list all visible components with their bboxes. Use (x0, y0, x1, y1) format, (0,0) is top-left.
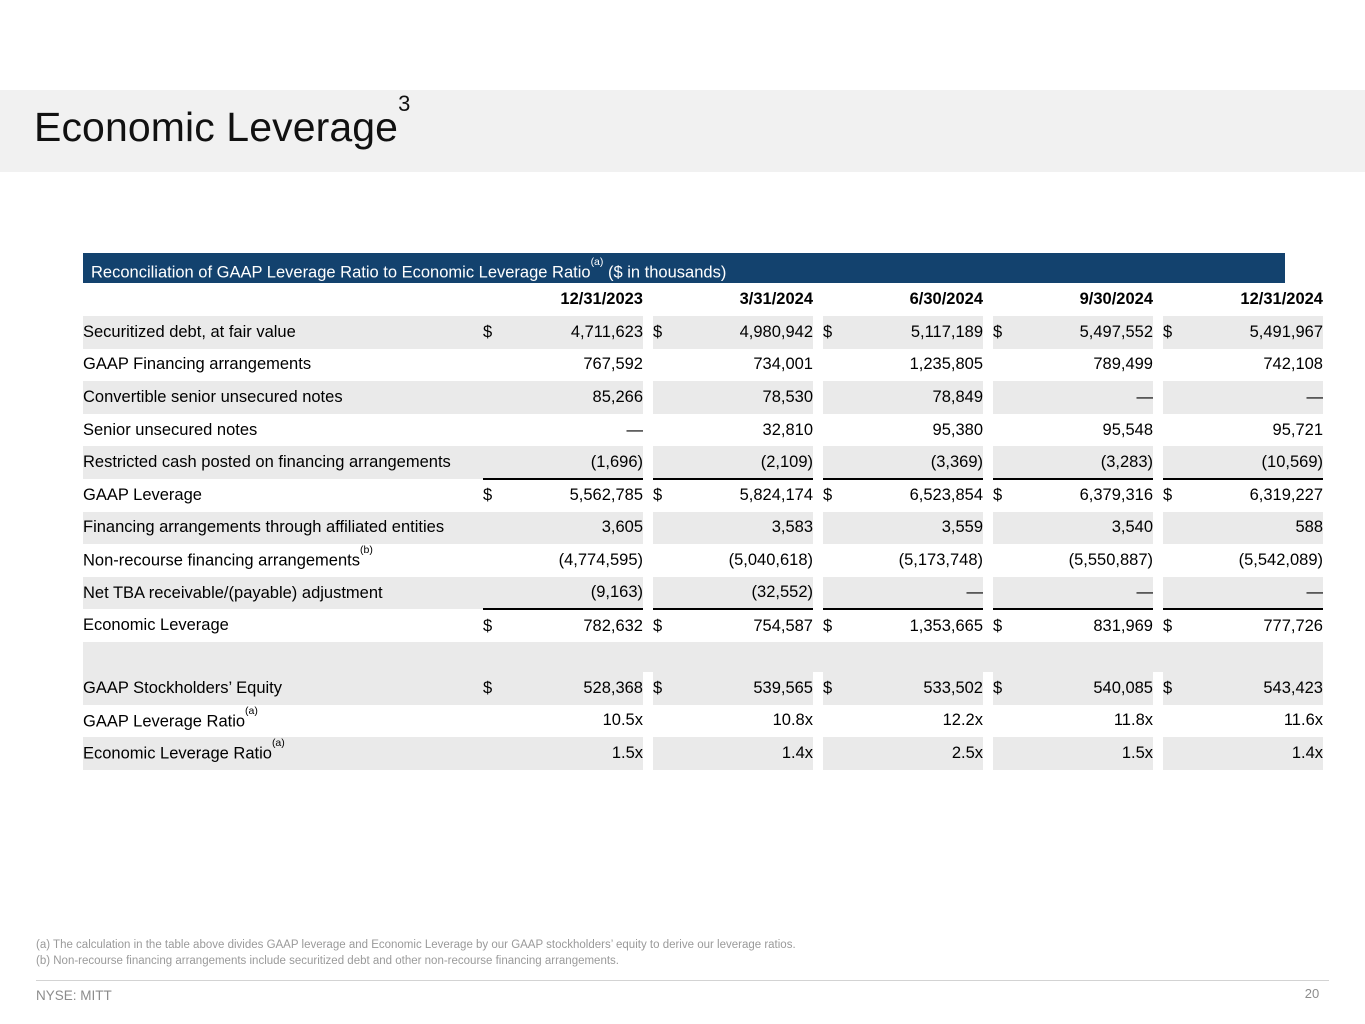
footnote-b: (b) Non-recourse financing arrangements … (36, 954, 796, 970)
column-gap (643, 577, 653, 610)
currency-symbol-cell (653, 349, 683, 382)
column-gap (1153, 446, 1163, 479)
value-cell: — (513, 414, 643, 447)
table-spacer-row (83, 642, 1323, 672)
table-row: Non-recourse financing arrangements(b)(4… (83, 544, 1323, 577)
value-cell: 1,353,665 (853, 609, 983, 642)
currency-symbol-cell (993, 737, 1023, 770)
currency-symbol-cell (823, 705, 853, 738)
table-row: Economic Leverage$782,632$754,587$1,353,… (83, 609, 1323, 642)
column-gap (1153, 349, 1163, 382)
table-row: Economic Leverage Ratio(a)1.5x1.4x2.5x1.… (83, 737, 1323, 770)
table-row: GAAP Leverage Ratio(a)10.5x10.8x12.2x11.… (83, 705, 1323, 738)
value-cell: 4,980,942 (683, 316, 813, 349)
page-title-superscript: 3 (398, 91, 410, 116)
value-cell: 10.5x (513, 705, 643, 738)
column-gap (983, 479, 993, 512)
column-gap (643, 414, 653, 447)
column-header-2: 6/30/2024 (823, 283, 983, 316)
column-gap (813, 349, 823, 382)
value-cell: 3,540 (1023, 512, 1153, 545)
value-cell: 78,530 (683, 381, 813, 414)
row-label-text: GAAP Stockholders’ Equity (83, 679, 282, 697)
value-cell: 5,491,967 (1193, 316, 1323, 349)
currency-symbol-cell: $ (1163, 479, 1193, 512)
value-cell: 1.4x (683, 737, 813, 770)
ticker-label: NYSE: MITT (36, 988, 112, 1003)
row-label: Financing arrangements through affiliate… (83, 512, 483, 545)
column-gap (813, 577, 823, 610)
currency-symbol-cell (483, 512, 513, 545)
value-cell: 528,368 (513, 672, 643, 705)
column-gap (813, 479, 823, 512)
currency-symbol-cell: $ (483, 609, 513, 642)
row-label-text: Financing arrangements through affiliate… (83, 518, 444, 536)
value-cell: 5,117,189 (853, 316, 983, 349)
currency-symbol-cell (1163, 705, 1193, 738)
row-label: Senior unsecured notes (83, 414, 483, 447)
value-cell: (5,173,748) (853, 544, 983, 577)
row-label: Net TBA receivable/(payable) adjustment (83, 577, 483, 610)
column-gap (643, 705, 653, 738)
row-label: Restricted cash posted on financing arra… (83, 446, 483, 479)
column-gap (983, 381, 993, 414)
column-gap (1153, 737, 1163, 770)
row-label: Non-recourse financing arrangements(b) (83, 544, 483, 577)
value-cell: (5,550,887) (1023, 544, 1153, 577)
currency-symbol-cell: $ (823, 672, 853, 705)
financial-table: 12/31/2023 3/31/2024 6/30/2024 9/30/2024… (83, 283, 1323, 770)
table-row: GAAP Stockholders’ Equity$528,368$539,56… (83, 672, 1323, 705)
currency-symbol-cell (1163, 381, 1193, 414)
value-cell: 533,502 (853, 672, 983, 705)
header-gap-0 (643, 283, 653, 316)
table-row: Convertible senior unsecured notes85,266… (83, 381, 1323, 414)
currency-symbol-cell (993, 705, 1023, 738)
currency-symbol-cell (653, 544, 683, 577)
currency-symbol-cell (653, 381, 683, 414)
currency-symbol-cell: $ (483, 479, 513, 512)
column-gap (643, 381, 653, 414)
column-gap (643, 512, 653, 545)
value-cell: 754,587 (683, 609, 813, 642)
row-label: GAAP Stockholders’ Equity (83, 672, 483, 705)
currency-symbol-cell: $ (993, 672, 1023, 705)
currency-symbol-cell (823, 737, 853, 770)
currency-symbol-cell: $ (483, 672, 513, 705)
table-banner-text: Reconciliation of GAAP Leverage Ratio to… (91, 264, 591, 282)
row-label-text: Non-recourse financing arrangements (83, 552, 360, 570)
currency-symbol-cell: $ (653, 479, 683, 512)
value-cell: (5,040,618) (683, 544, 813, 577)
value-cell: 32,810 (683, 414, 813, 447)
column-gap (813, 544, 823, 577)
row-label-superscript: (b) (360, 544, 373, 556)
value-cell: 10.8x (683, 705, 813, 738)
column-header-3: 9/30/2024 (993, 283, 1153, 316)
currency-symbol-cell: $ (823, 609, 853, 642)
column-gap (1153, 705, 1163, 738)
column-gap (983, 446, 993, 479)
footer-divider (36, 980, 1329, 981)
value-cell: 6,523,854 (853, 479, 983, 512)
column-gap (813, 512, 823, 545)
row-label-text: Economic Leverage Ratio (83, 745, 272, 763)
value-cell: (3,283) (1023, 446, 1153, 479)
value-cell: 543,423 (1193, 672, 1323, 705)
value-cell: (2,109) (683, 446, 813, 479)
row-label: Economic Leverage Ratio(a) (83, 737, 483, 770)
column-gap (1153, 577, 1163, 610)
column-gap (983, 414, 993, 447)
column-gap (1153, 672, 1163, 705)
currency-symbol-cell (1163, 544, 1193, 577)
column-header-1: 3/31/2024 (653, 283, 813, 316)
row-label-text: Restricted cash posted on financing arra… (83, 453, 451, 471)
table-row: Securitized debt, at fair value$4,711,62… (83, 316, 1323, 349)
table-banner-superscript: (a) (591, 256, 604, 268)
column-gap (643, 316, 653, 349)
row-label-text: GAAP Financing arrangements (83, 355, 311, 373)
currency-symbol-cell (483, 737, 513, 770)
value-cell: 1.4x (1193, 737, 1323, 770)
table-row: GAAP Leverage$5,562,785$5,824,174$6,523,… (83, 479, 1323, 512)
currency-symbol-cell (823, 512, 853, 545)
header-gap-2 (983, 283, 993, 316)
column-gap (813, 446, 823, 479)
table-row: Restricted cash posted on financing arra… (83, 446, 1323, 479)
column-gap (1153, 316, 1163, 349)
value-cell: 78,849 (853, 381, 983, 414)
column-gap (1153, 544, 1163, 577)
page-number: 20 (1295, 986, 1329, 1001)
value-cell: 6,319,227 (1193, 479, 1323, 512)
row-label: Economic Leverage (83, 609, 483, 642)
currency-symbol-cell: $ (483, 316, 513, 349)
value-cell: 777,726 (1193, 609, 1323, 642)
value-cell: 831,969 (1023, 609, 1153, 642)
currency-symbol-cell: $ (1163, 672, 1193, 705)
value-cell: 11.6x (1193, 705, 1323, 738)
currency-symbol-cell (483, 577, 513, 610)
currency-symbol-cell (1163, 414, 1193, 447)
column-gap (983, 577, 993, 610)
currency-symbol-cell (823, 577, 853, 610)
column-gap (813, 316, 823, 349)
column-gap (983, 512, 993, 545)
currency-symbol-cell (483, 544, 513, 577)
currency-symbol-cell (823, 544, 853, 577)
column-gap (643, 544, 653, 577)
table-spacer-cell (83, 642, 1323, 672)
row-label-text: Securitized debt, at fair value (83, 323, 296, 341)
row-label-text: Convertible senior unsecured notes (83, 388, 343, 406)
value-cell: (9,163) (513, 577, 643, 610)
value-cell: 95,548 (1023, 414, 1153, 447)
value-cell: 742,108 (1193, 349, 1323, 382)
value-cell: 1.5x (1023, 737, 1153, 770)
currency-symbol-cell (993, 512, 1023, 545)
currency-symbol-cell: $ (653, 609, 683, 642)
row-label-superscript: (a) (245, 705, 258, 717)
row-label: Securitized debt, at fair value (83, 316, 483, 349)
column-gap (983, 544, 993, 577)
currency-symbol-cell (823, 414, 853, 447)
value-cell: 5,497,552 (1023, 316, 1153, 349)
value-cell: — (1023, 577, 1153, 610)
value-cell: — (853, 577, 983, 610)
table-row: Senior unsecured notes—32,81095,38095,54… (83, 414, 1323, 447)
column-gap (983, 737, 993, 770)
column-gap (1153, 479, 1163, 512)
value-cell: (3,369) (853, 446, 983, 479)
row-label: GAAP Leverage (83, 479, 483, 512)
currency-symbol-cell: $ (993, 479, 1023, 512)
currency-symbol-cell (993, 349, 1023, 382)
currency-symbol-cell (483, 705, 513, 738)
row-label-text: GAAP Leverage Ratio (83, 712, 245, 730)
value-cell: 6,379,316 (1023, 479, 1153, 512)
currency-symbol-cell (993, 414, 1023, 447)
column-gap (813, 705, 823, 738)
column-gap (983, 672, 993, 705)
leverage-reconciliation-table: Reconciliation of GAAP Leverage Ratio to… (83, 253, 1285, 770)
currency-symbol-cell (1163, 577, 1193, 610)
value-cell: 540,085 (1023, 672, 1153, 705)
value-cell: 95,721 (1193, 414, 1323, 447)
value-cell: (32,552) (683, 577, 813, 610)
currency-symbol-cell: $ (823, 316, 853, 349)
value-cell: 3,605 (513, 512, 643, 545)
currency-symbol-cell (993, 544, 1023, 577)
column-gap (643, 672, 653, 705)
value-cell: 1.5x (513, 737, 643, 770)
value-cell: 789,499 (1023, 349, 1153, 382)
column-header-0: 12/31/2023 (483, 283, 643, 316)
row-label-text: Economic Leverage (83, 616, 229, 634)
column-gap (983, 349, 993, 382)
currency-symbol-cell (823, 381, 853, 414)
row-label-text: Net TBA receivable/(payable) adjustment (83, 584, 383, 602)
column-gap (813, 414, 823, 447)
table-banner-suffix: ($ in thousands) (603, 264, 726, 282)
value-cell: 11.8x (1023, 705, 1153, 738)
value-cell: 588 (1193, 512, 1323, 545)
value-cell: (10,569) (1193, 446, 1323, 479)
column-gap (813, 609, 823, 642)
value-cell: — (1023, 381, 1153, 414)
row-label-superscript: (a) (272, 737, 285, 749)
value-cell: 767,592 (513, 349, 643, 382)
value-cell: 12.2x (853, 705, 983, 738)
row-label: GAAP Leverage Ratio(a) (83, 705, 483, 738)
column-gap (983, 609, 993, 642)
value-cell: 4,711,623 (513, 316, 643, 349)
footnote-a: (a) The calculation in the table above d… (36, 938, 796, 954)
currency-symbol-cell (1163, 446, 1193, 479)
currency-symbol-cell (1163, 737, 1193, 770)
value-cell: 2.5x (853, 737, 983, 770)
currency-symbol-cell (653, 414, 683, 447)
column-gap (643, 609, 653, 642)
currency-symbol-cell (653, 737, 683, 770)
value-cell: (5,542,089) (1193, 544, 1323, 577)
table-row: Net TBA receivable/(payable) adjustment(… (83, 577, 1323, 610)
column-gap (1153, 414, 1163, 447)
column-gap (813, 672, 823, 705)
currency-symbol-cell (823, 349, 853, 382)
currency-symbol-cell (483, 349, 513, 382)
column-gap (983, 705, 993, 738)
column-header-label (83, 283, 483, 316)
currency-symbol-cell (653, 577, 683, 610)
currency-symbol-cell: $ (993, 316, 1023, 349)
column-gap (643, 446, 653, 479)
value-cell: 5,562,785 (513, 479, 643, 512)
table-row: Financing arrangements through affiliate… (83, 512, 1323, 545)
currency-symbol-cell (993, 446, 1023, 479)
footnotes: (a) The calculation in the table above d… (36, 938, 796, 969)
row-label: Convertible senior unsecured notes (83, 381, 483, 414)
value-cell: 734,001 (683, 349, 813, 382)
currency-symbol-cell: $ (993, 609, 1023, 642)
column-gap (813, 381, 823, 414)
currency-symbol-cell (1163, 349, 1193, 382)
value-cell: 1,235,805 (853, 349, 983, 382)
currency-symbol-cell (993, 381, 1023, 414)
column-gap (643, 737, 653, 770)
currency-symbol-cell: $ (823, 479, 853, 512)
currency-symbol-cell (1163, 512, 1193, 545)
currency-symbol-cell: $ (1163, 316, 1193, 349)
value-cell: 5,824,174 (683, 479, 813, 512)
currency-symbol-cell: $ (653, 316, 683, 349)
value-cell: 85,266 (513, 381, 643, 414)
header-gap-1 (813, 283, 823, 316)
table-banner: Reconciliation of GAAP Leverage Ratio to… (83, 253, 1285, 283)
column-gap (983, 316, 993, 349)
value-cell: (4,774,595) (513, 544, 643, 577)
value-cell: — (1193, 577, 1323, 610)
table-row: GAAP Financing arrangements767,592734,00… (83, 349, 1323, 382)
currency-symbol-cell: $ (1163, 609, 1193, 642)
value-cell: 95,380 (853, 414, 983, 447)
value-cell: 782,632 (513, 609, 643, 642)
column-gap (643, 349, 653, 382)
page-title-text: Economic Leverage (34, 104, 398, 150)
currency-symbol-cell (823, 446, 853, 479)
currency-symbol-cell (483, 446, 513, 479)
column-gap (813, 737, 823, 770)
column-header-4: 12/31/2024 (1163, 283, 1323, 316)
value-cell: — (1193, 381, 1323, 414)
header-gap-3 (1153, 283, 1163, 316)
value-cell: 3,559 (853, 512, 983, 545)
currency-symbol-cell (653, 512, 683, 545)
value-cell: (1,696) (513, 446, 643, 479)
currency-symbol-cell (653, 446, 683, 479)
column-gap (1153, 381, 1163, 414)
currency-symbol-cell (653, 705, 683, 738)
table-header-row: 12/31/2023 3/31/2024 6/30/2024 9/30/2024… (83, 283, 1323, 316)
row-label: GAAP Financing arrangements (83, 349, 483, 382)
currency-symbol-cell: $ (653, 672, 683, 705)
column-gap (1153, 512, 1163, 545)
slide-title-band: Economic Leverage3 (0, 90, 1365, 172)
row-label-text: Senior unsecured notes (83, 421, 257, 439)
value-cell: 539,565 (683, 672, 813, 705)
currency-symbol-cell (483, 414, 513, 447)
table-body: Securitized debt, at fair value$4,711,62… (83, 316, 1323, 770)
page-title: Economic Leverage3 (34, 104, 410, 151)
currency-symbol-cell (483, 381, 513, 414)
column-gap (643, 479, 653, 512)
value-cell: 3,583 (683, 512, 813, 545)
currency-symbol-cell (993, 577, 1023, 610)
column-gap (1153, 609, 1163, 642)
row-label-text: GAAP Leverage (83, 486, 202, 504)
